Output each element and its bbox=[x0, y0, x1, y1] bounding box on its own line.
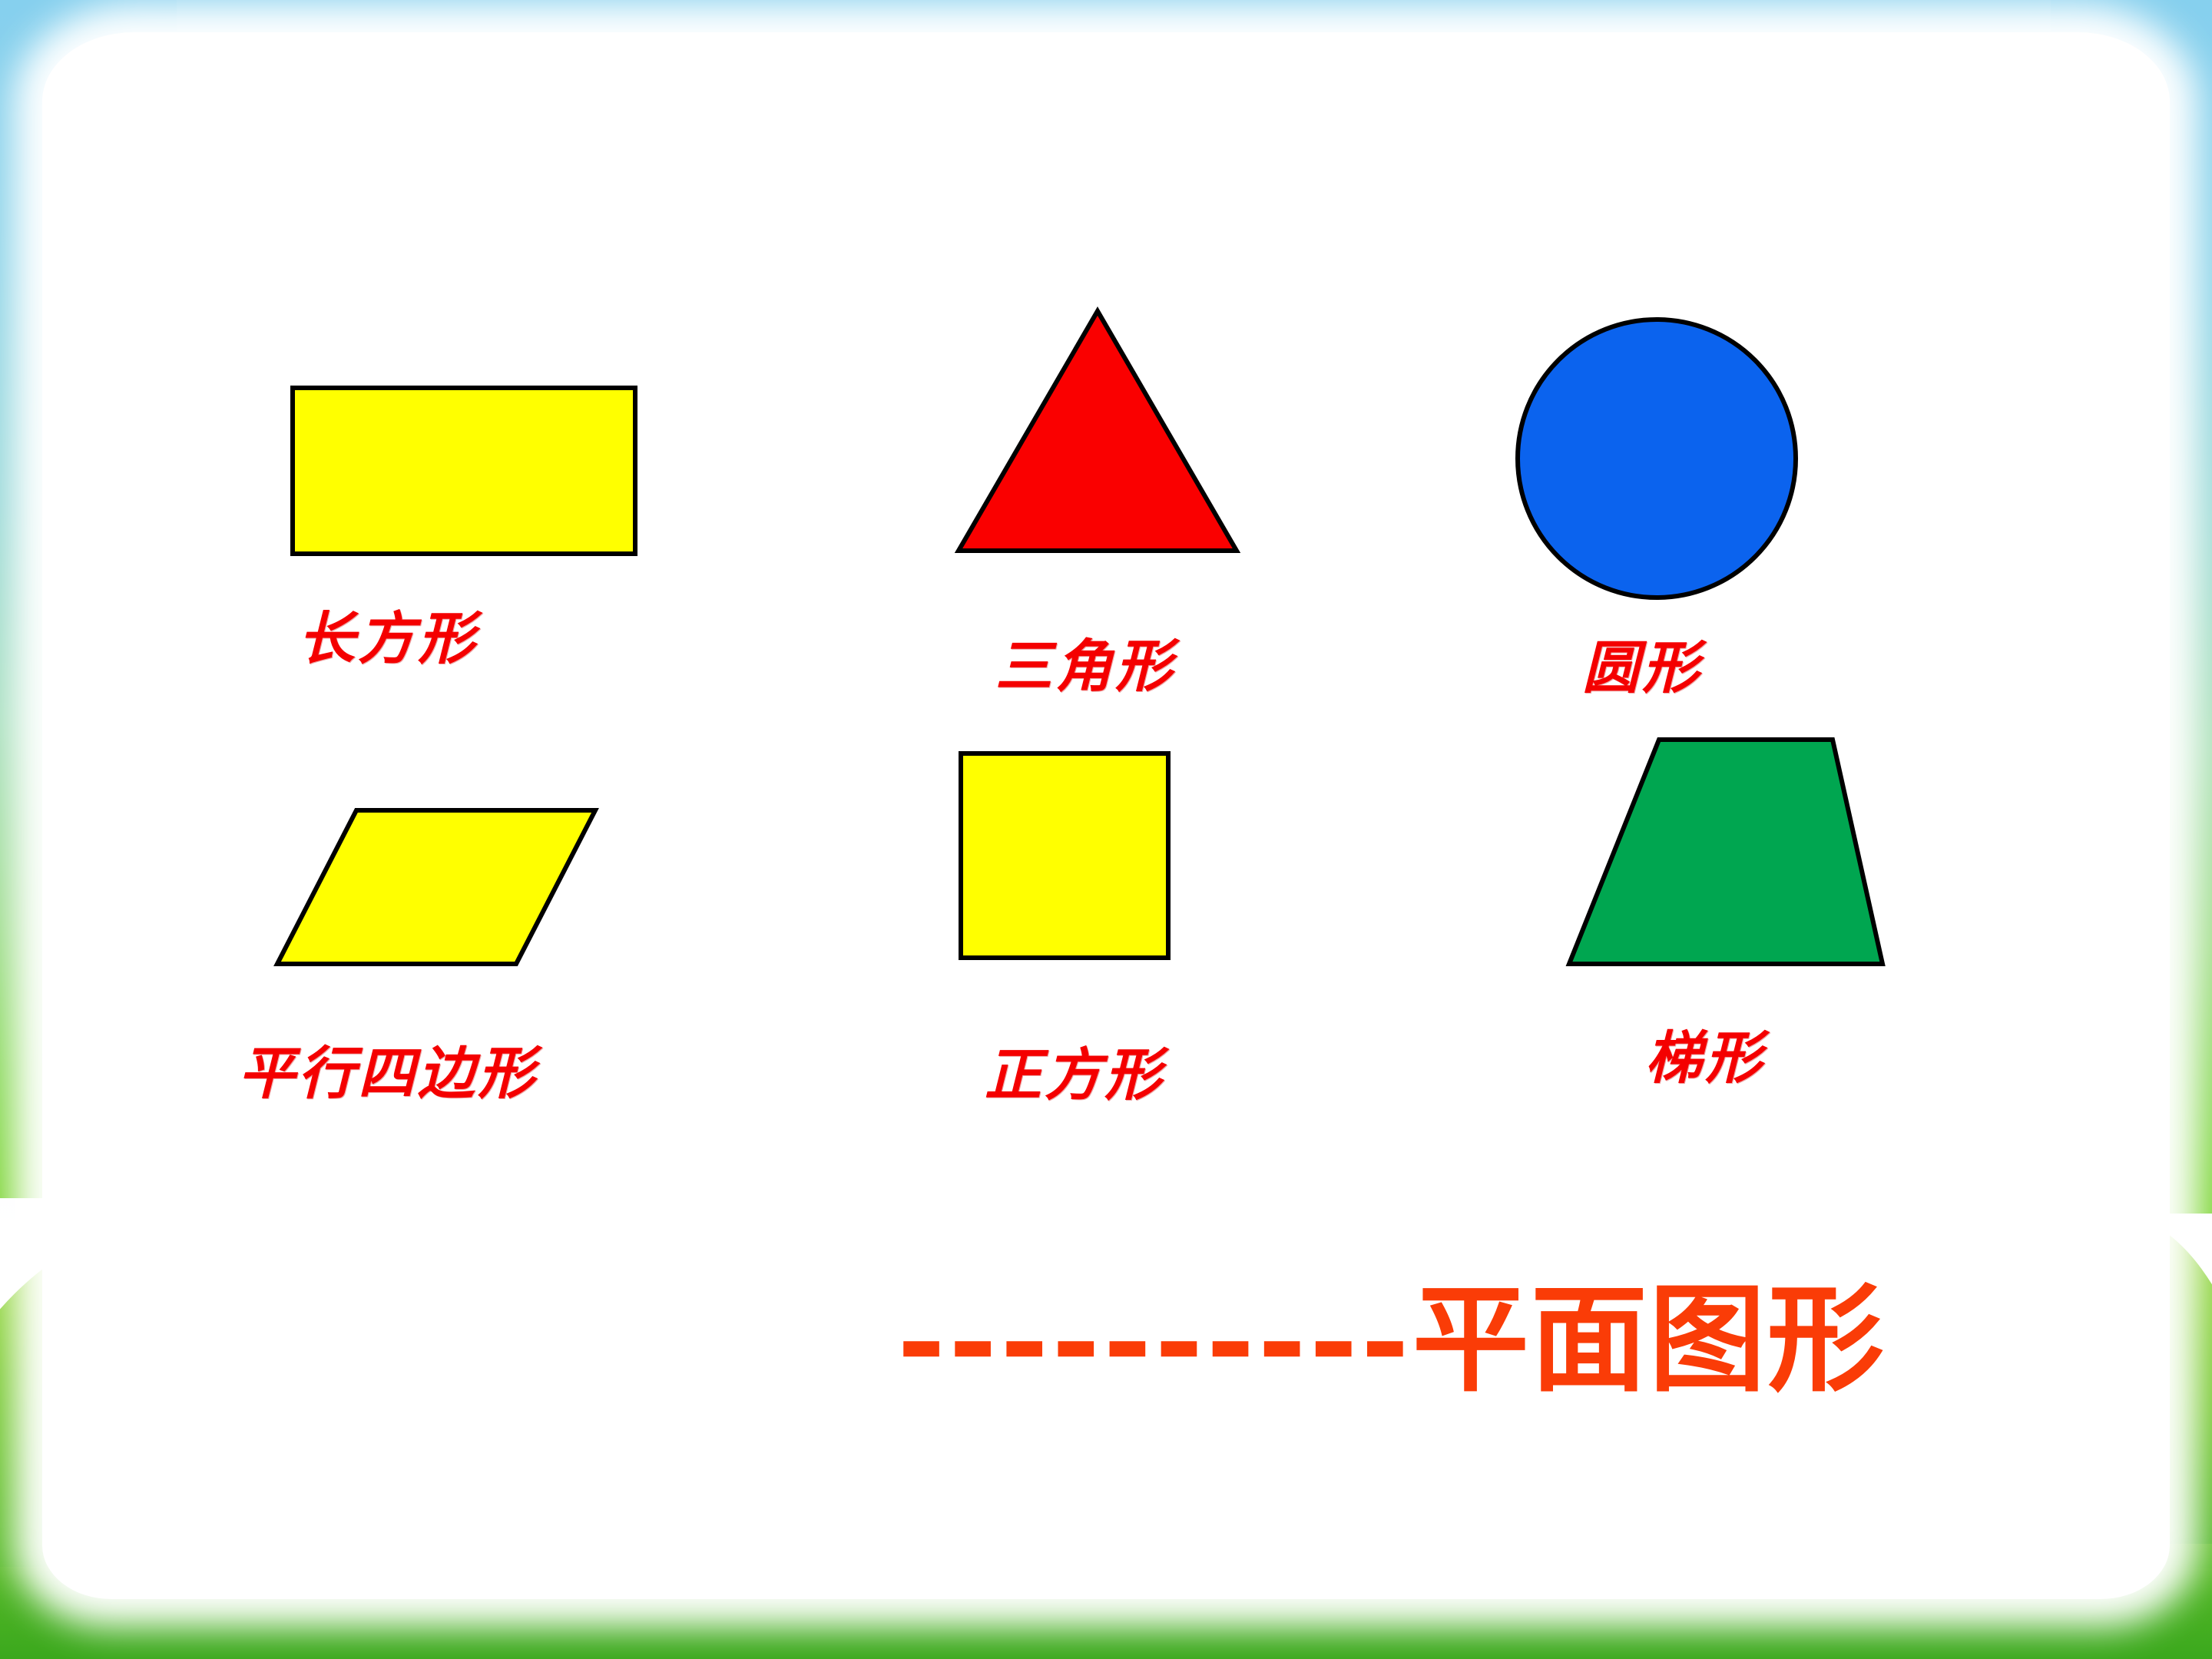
shape-square[interactable] bbox=[959, 751, 1171, 960]
bottom-title-dashes: ---------- bbox=[897, 1270, 1412, 1408]
label-trapezoid: 梯形 bbox=[1645, 1012, 1765, 1094]
label-square: 正方形 bbox=[985, 1029, 1164, 1111]
bottom-title: ----------平面图形 bbox=[897, 1281, 1886, 1398]
shape-rectangle[interactable] bbox=[290, 386, 637, 556]
shape-parallelogram[interactable] bbox=[273, 806, 599, 968]
shape-trapezoid[interactable] bbox=[1565, 736, 1886, 968]
panel-top-fill bbox=[100, 74, 2112, 227]
label-circle: 圆形 bbox=[1582, 622, 1702, 704]
slide-canvas: 长方形 三角形 圆形 平行四边形 正方形 梯形 ----------平面图形 bbox=[0, 0, 2212, 1659]
shape-triangle[interactable] bbox=[955, 307, 1240, 555]
label-triangle: 三角形 bbox=[995, 621, 1175, 703]
label-rectangle: 长方形 bbox=[298, 593, 478, 675]
label-parallelogram: 平行四边形 bbox=[238, 1028, 538, 1110]
bottom-title-text: 平面图形 bbox=[1412, 1270, 1886, 1408]
shape-circle[interactable] bbox=[1515, 316, 1799, 601]
